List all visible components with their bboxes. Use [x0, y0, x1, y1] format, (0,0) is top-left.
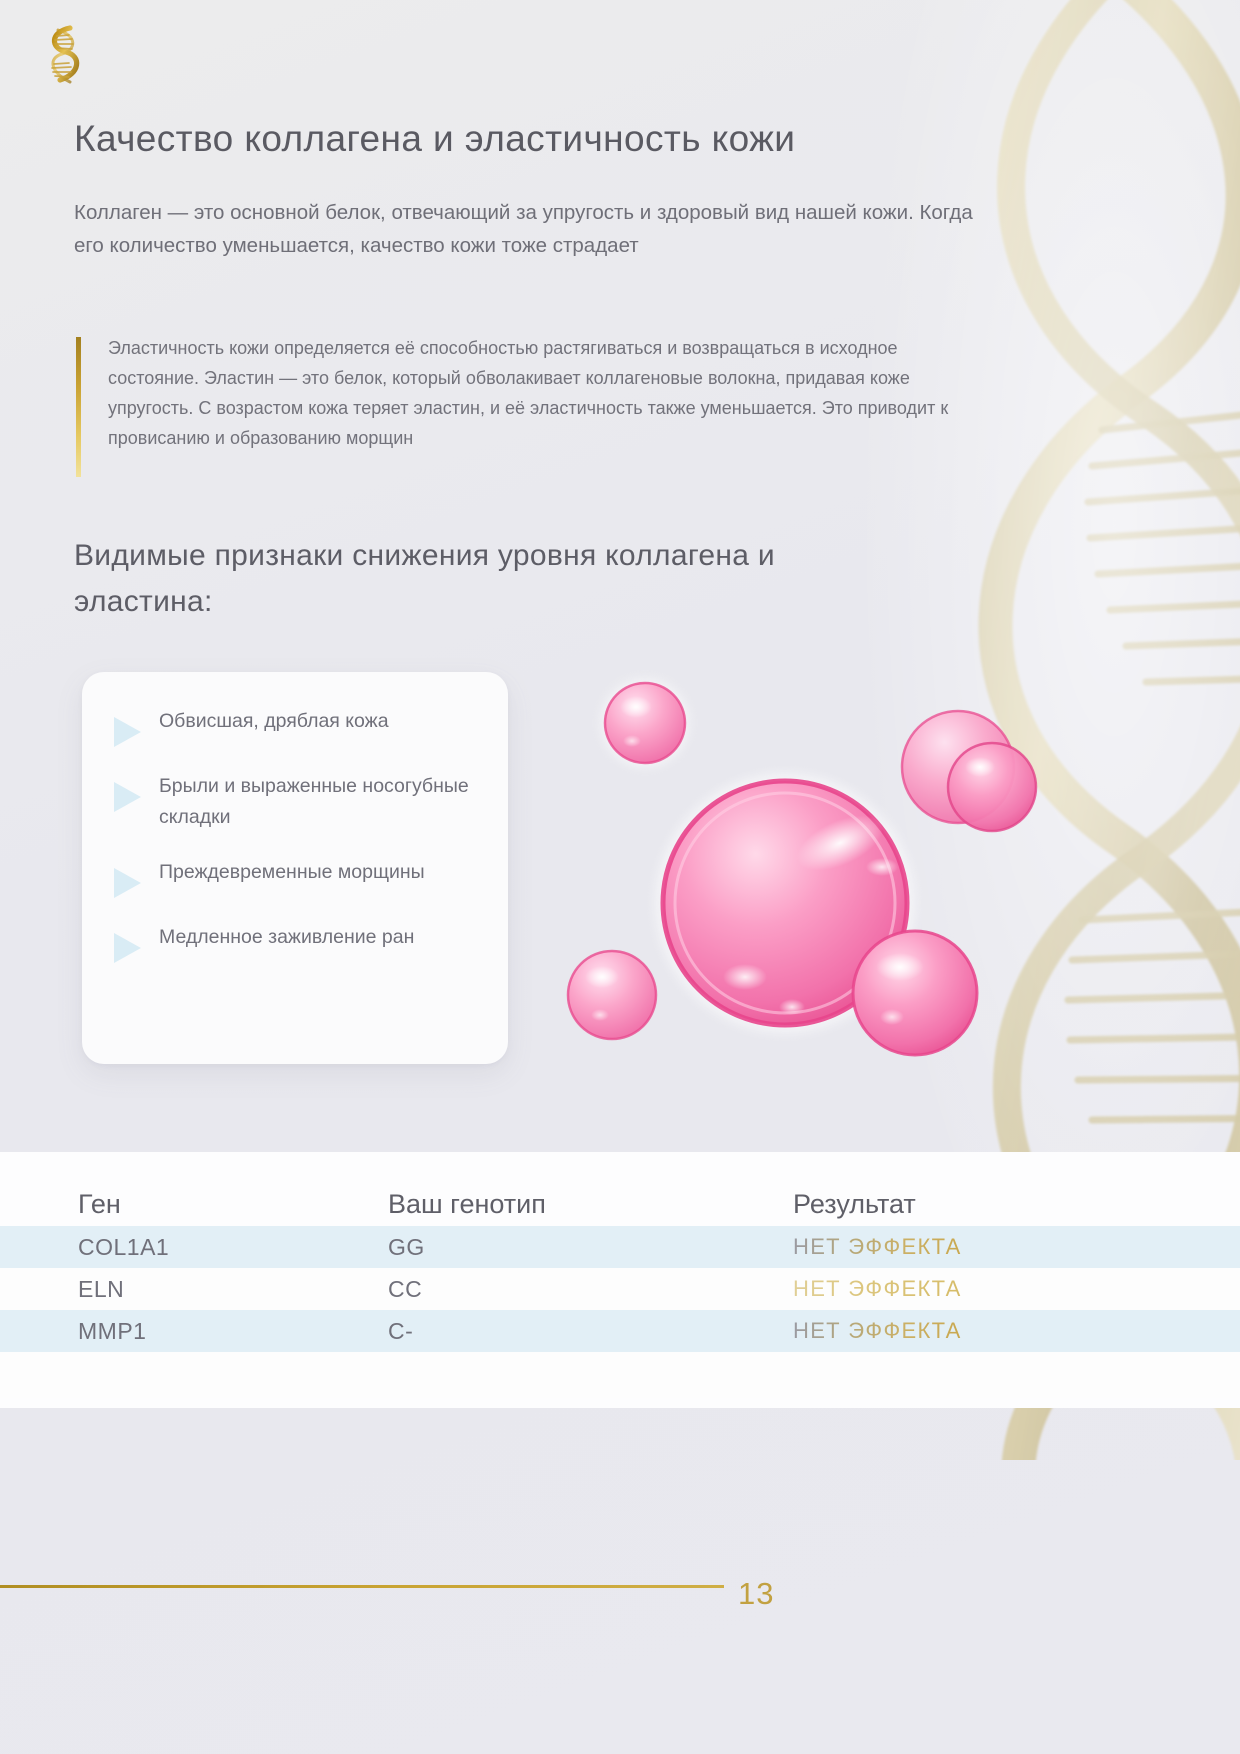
page-footer: 13 [0, 1494, 1240, 1754]
table-row: ELN CC НЕТ ЭФФЕКТА [0, 1268, 1240, 1310]
table-header-row: Ген Ваш генотип Результат [0, 1152, 1240, 1226]
cell-genotype: CC [388, 1276, 793, 1303]
list-item: Брыли и выраженные носогубные складки [106, 771, 482, 833]
callout-text: Эластичность кожи определяется её способ… [108, 338, 948, 448]
list-item-label: Обвисшая, дряблая кожа [159, 706, 389, 737]
triangle-right-icon [114, 782, 141, 812]
column-header-gene: Ген [78, 1189, 388, 1220]
column-header-genotype: Ваш генотип [388, 1189, 793, 1220]
report-page: Качество коллагена и эластичность кожи К… [0, 0, 1240, 1754]
triangle-right-icon [114, 717, 141, 747]
pink-collagen-bubbles-illustration [540, 655, 1060, 1095]
list-item: Обвисшая, дряблая кожа [106, 706, 482, 747]
cell-gene: ELN [78, 1276, 388, 1303]
list-item-label: Брыли и выраженные носогубные складки [159, 771, 482, 833]
cell-genotype: GG [388, 1234, 793, 1261]
callout-accent-bar [76, 337, 81, 477]
page-title: Качество коллагена и эластичность кожи [74, 118, 795, 160]
list-item: Преждевременные морщины [106, 857, 482, 898]
status-badge: НЕТ ЭФФЕКТА [793, 1276, 962, 1301]
table-row: COL1A1 GG НЕТ ЭФФЕКТА [0, 1226, 1240, 1268]
signs-heading: Видимые признаки снижения уровня коллаге… [74, 533, 864, 625]
dna-helix-icon [36, 22, 92, 88]
status-badge: НЕТ ЭФФЕКТА [793, 1234, 962, 1259]
list-item-label: Медленное заживление ран [159, 922, 414, 953]
page-number: 13 [738, 1576, 774, 1612]
table-footer-spacer [0, 1352, 1240, 1398]
footer-rule [0, 1585, 724, 1588]
results-table: Ген Ваш генотип Результат COL1A1 GG НЕТ … [0, 1152, 1240, 1408]
status-badge: НЕТ ЭФФЕКТА [793, 1318, 962, 1343]
signs-list-card: Обвисшая, дряблая кожа Брыли и выраженны… [82, 672, 508, 1064]
table-row: MMP1 C- НЕТ ЭФФЕКТА [0, 1310, 1240, 1352]
callout-block: Эластичность кожи определяется её способ… [76, 333, 966, 453]
column-header-result: Результат [793, 1189, 1240, 1220]
list-item: Медленное заживление ран [106, 922, 482, 963]
triangle-right-icon [114, 933, 141, 963]
list-item-label: Преждевременные морщины [159, 857, 425, 888]
cell-gene: MMP1 [78, 1318, 388, 1345]
cell-genotype: C- [388, 1318, 793, 1345]
cell-gene: COL1A1 [78, 1234, 388, 1261]
intro-paragraph: Коллаген — это основной белок, отвечающи… [74, 196, 974, 262]
triangle-right-icon [114, 868, 141, 898]
